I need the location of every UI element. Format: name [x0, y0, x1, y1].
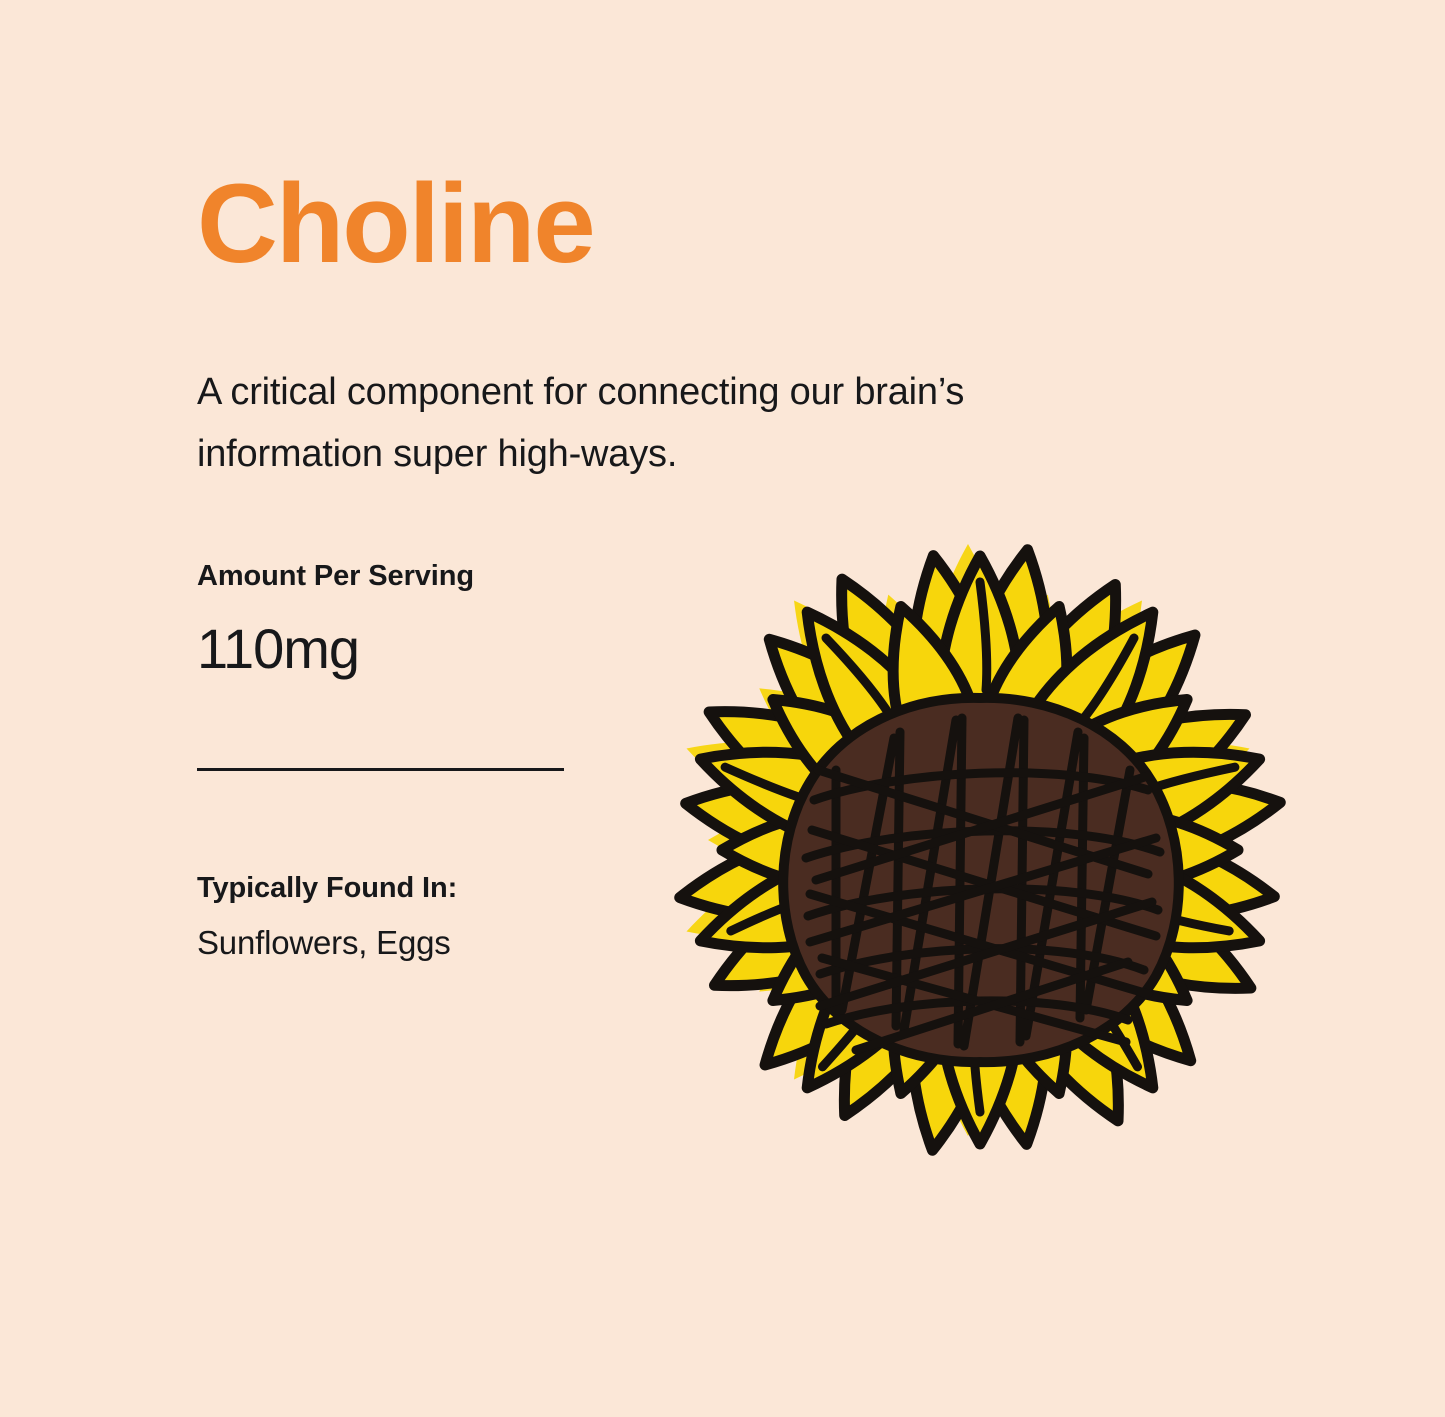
sunflower-illustration — [600, 470, 1360, 1230]
nutrient-description: A critical component for connecting our … — [197, 362, 1027, 485]
nutrient-card: Choline A critical component for connect… — [0, 0, 1445, 1417]
section-divider — [197, 768, 564, 771]
typically-found-in-label: Typically Found In: — [197, 872, 457, 905]
page-title: Choline — [197, 168, 594, 280]
typically-found-in-value: Sunflowers, Eggs — [197, 922, 451, 965]
amount-per-serving-value: 110mg — [197, 615, 359, 682]
sunflower-svg — [600, 470, 1360, 1230]
amount-per-serving-label: Amount Per Serving — [197, 560, 474, 593]
sunflower-center — [783, 698, 1179, 1062]
